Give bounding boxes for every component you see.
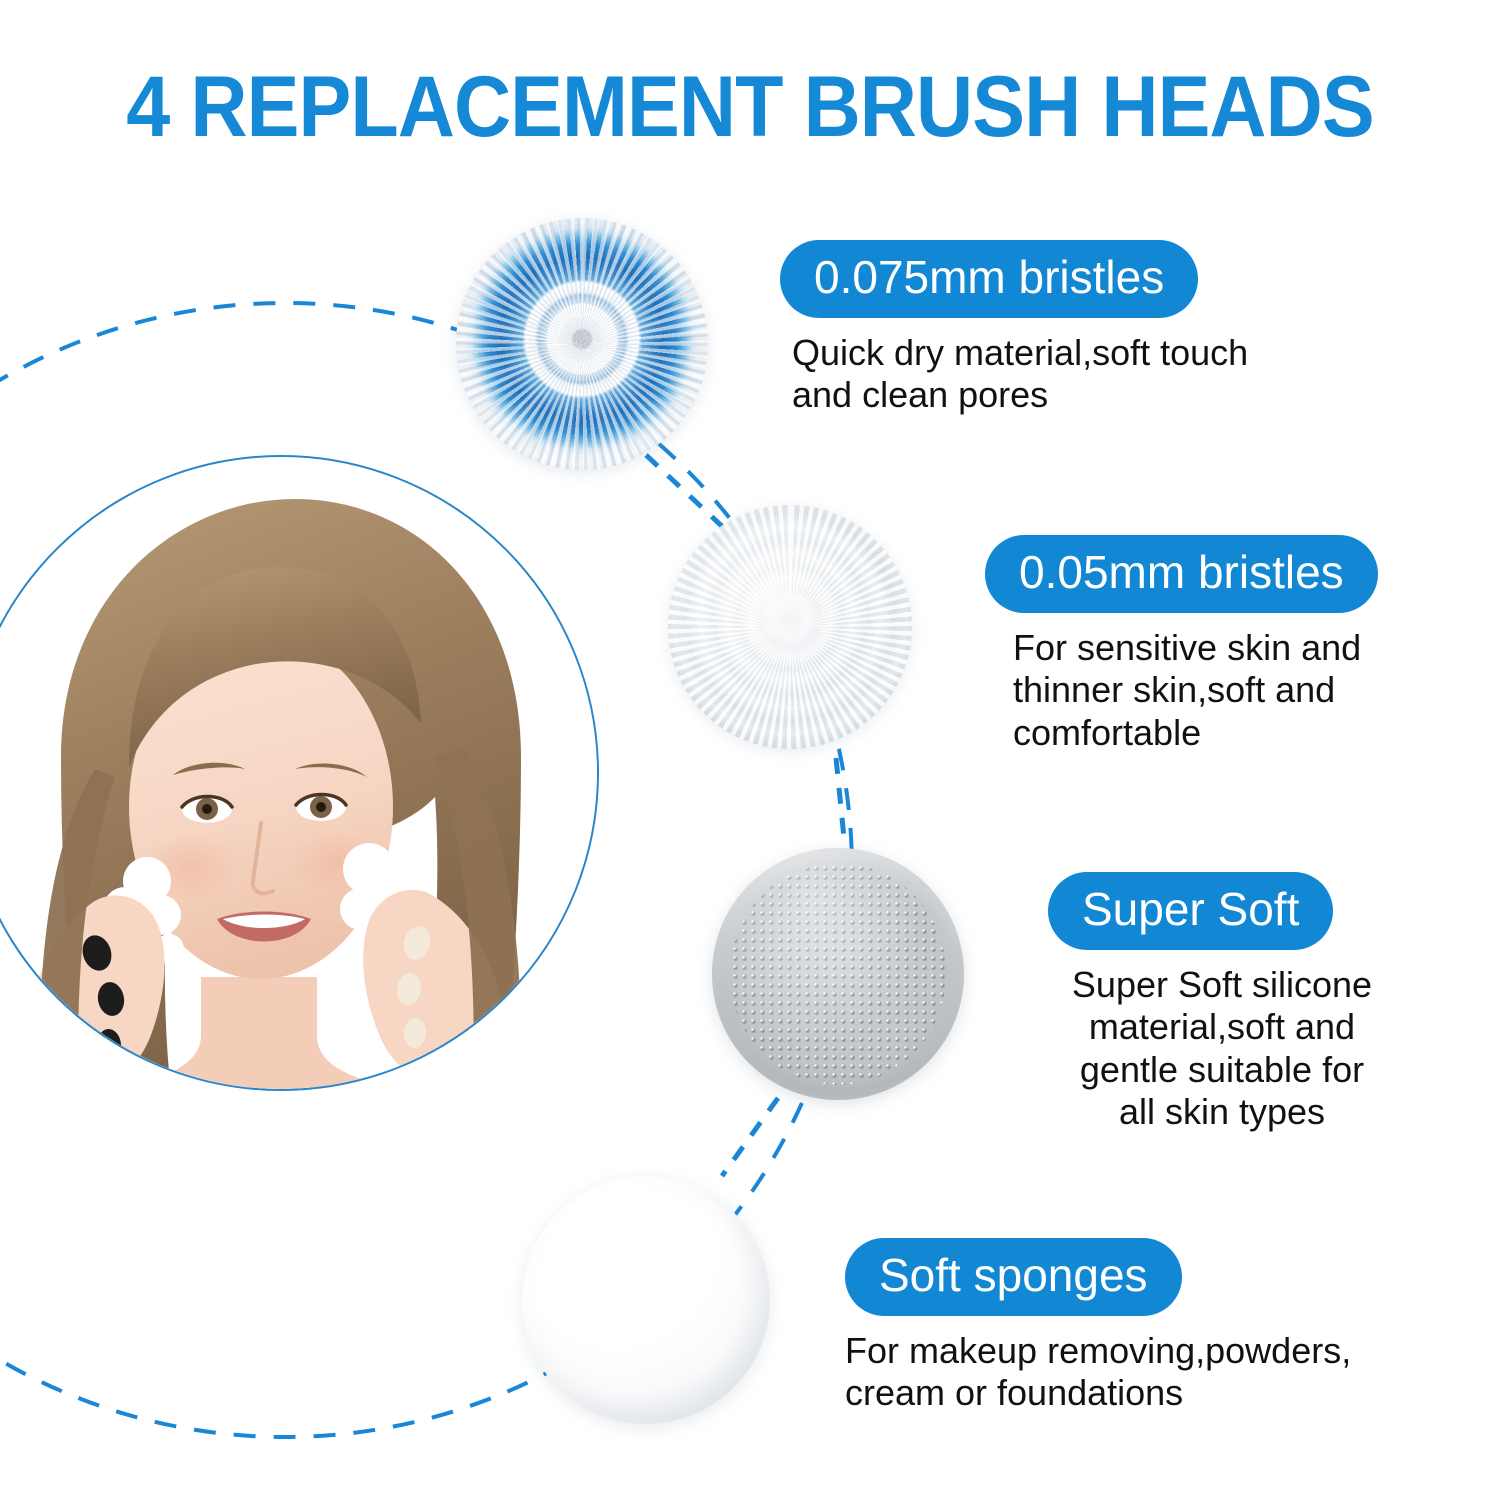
callout-bristles-0075: 0.075mm bristles Quick dry material,soft… [780, 240, 1248, 417]
connector-line-2 [836, 758, 844, 838]
badge-005mm-bristles: 0.05mm bristles [985, 535, 1378, 613]
model-photo-illustration [0, 457, 597, 1089]
infographic-page: 4 REPLACEMENT BRUSH HEADS [0, 0, 1500, 1500]
callout-super-soft: Super Soft Super Soft silicone material,… [1022, 872, 1422, 1134]
badge-soft-sponges: Soft sponges [845, 1238, 1182, 1316]
callout-bristles-005: 0.05mm bristles For sensitive skin and t… [985, 535, 1378, 754]
model-photo-circle [0, 455, 599, 1091]
silicone-sheen [712, 848, 964, 1100]
badge-0075mm-bristles: 0.075mm bristles [780, 240, 1198, 318]
description-soft-sponges: For makeup removing,powders, cream or fo… [845, 1330, 1351, 1415]
callout-soft-sponges: Soft sponges For makeup removing,powders… [845, 1238, 1351, 1415]
description-0075mm-bristles: Quick dry material,soft touch and clean … [792, 332, 1248, 417]
model-photo [0, 457, 597, 1089]
brush-head-silicone [712, 848, 964, 1100]
bristle-highlight [668, 505, 912, 749]
page-title: 4 REPLACEMENT BRUSH HEADS [60, 62, 1440, 152]
brush-head-white-bristles [668, 505, 912, 749]
connector-line-3 [722, 1098, 778, 1176]
description-super-soft: Super Soft silicone material,soft and ge… [1022, 964, 1422, 1134]
brush-head-sponge [522, 1176, 770, 1424]
bristle-texture-overlay [456, 218, 708, 470]
brush-head-blue-bristles [456, 218, 708, 470]
badge-super-soft: Super Soft [1048, 872, 1333, 950]
sponge-sheen [522, 1176, 770, 1424]
description-005mm-bristles: For sensitive skin and thinner skin,soft… [1013, 627, 1378, 754]
